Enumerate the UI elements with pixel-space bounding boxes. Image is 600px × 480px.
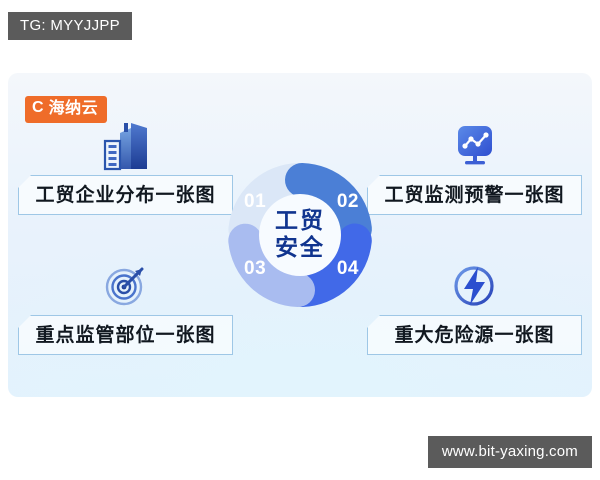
infographic-card: C 海纳云 bbox=[8, 73, 592, 397]
item-major-hazard-source[interactable]: 重大危险源一张图 bbox=[367, 255, 582, 355]
label-box[interactable]: 工贸监测预警一张图 bbox=[367, 175, 582, 215]
center-title-line1: 工贸 bbox=[275, 208, 325, 235]
site-watermark: www.bit-yaxing.com bbox=[428, 436, 592, 468]
monitor-chart-icon bbox=[367, 115, 582, 171]
segment-number-04: 04 bbox=[337, 259, 359, 278]
item-label: 重大危险源一张图 bbox=[394, 326, 554, 345]
segment-number-03: 03 bbox=[244, 259, 266, 278]
lightning-bolt-icon bbox=[367, 255, 582, 311]
center-title-line2: 安全 bbox=[275, 235, 325, 262]
segment-number-01: 01 bbox=[244, 192, 266, 211]
target-bullseye-icon bbox=[18, 255, 233, 311]
cloud-c-icon: C bbox=[32, 100, 44, 116]
item-monitoring-warning[interactable]: 工贸监测预警一张图 bbox=[367, 115, 582, 215]
item-label: 重点监管部位一张图 bbox=[35, 326, 215, 345]
telegram-watermark: TG: MYYJJPP bbox=[8, 12, 132, 40]
item-enterprise-distribution[interactable]: 工贸企业分布一张图 bbox=[18, 115, 233, 215]
label-box[interactable]: 工贸企业分布一张图 bbox=[18, 175, 233, 215]
segment-number-02: 02 bbox=[337, 192, 359, 211]
item-key-supervision-area[interactable]: 重点监管部位一张图 bbox=[18, 255, 233, 355]
factory-building-icon bbox=[18, 115, 233, 171]
label-box[interactable]: 重点监管部位一张图 bbox=[18, 315, 233, 355]
label-box[interactable]: 重大危险源一张图 bbox=[367, 315, 582, 355]
item-label: 工贸监测预警一张图 bbox=[384, 186, 564, 205]
center-donut-chart: 01 02 03 04 工贸 安全 bbox=[220, 155, 380, 315]
center-title: 工贸 安全 bbox=[275, 208, 325, 262]
item-label: 工贸企业分布一张图 bbox=[35, 186, 215, 205]
